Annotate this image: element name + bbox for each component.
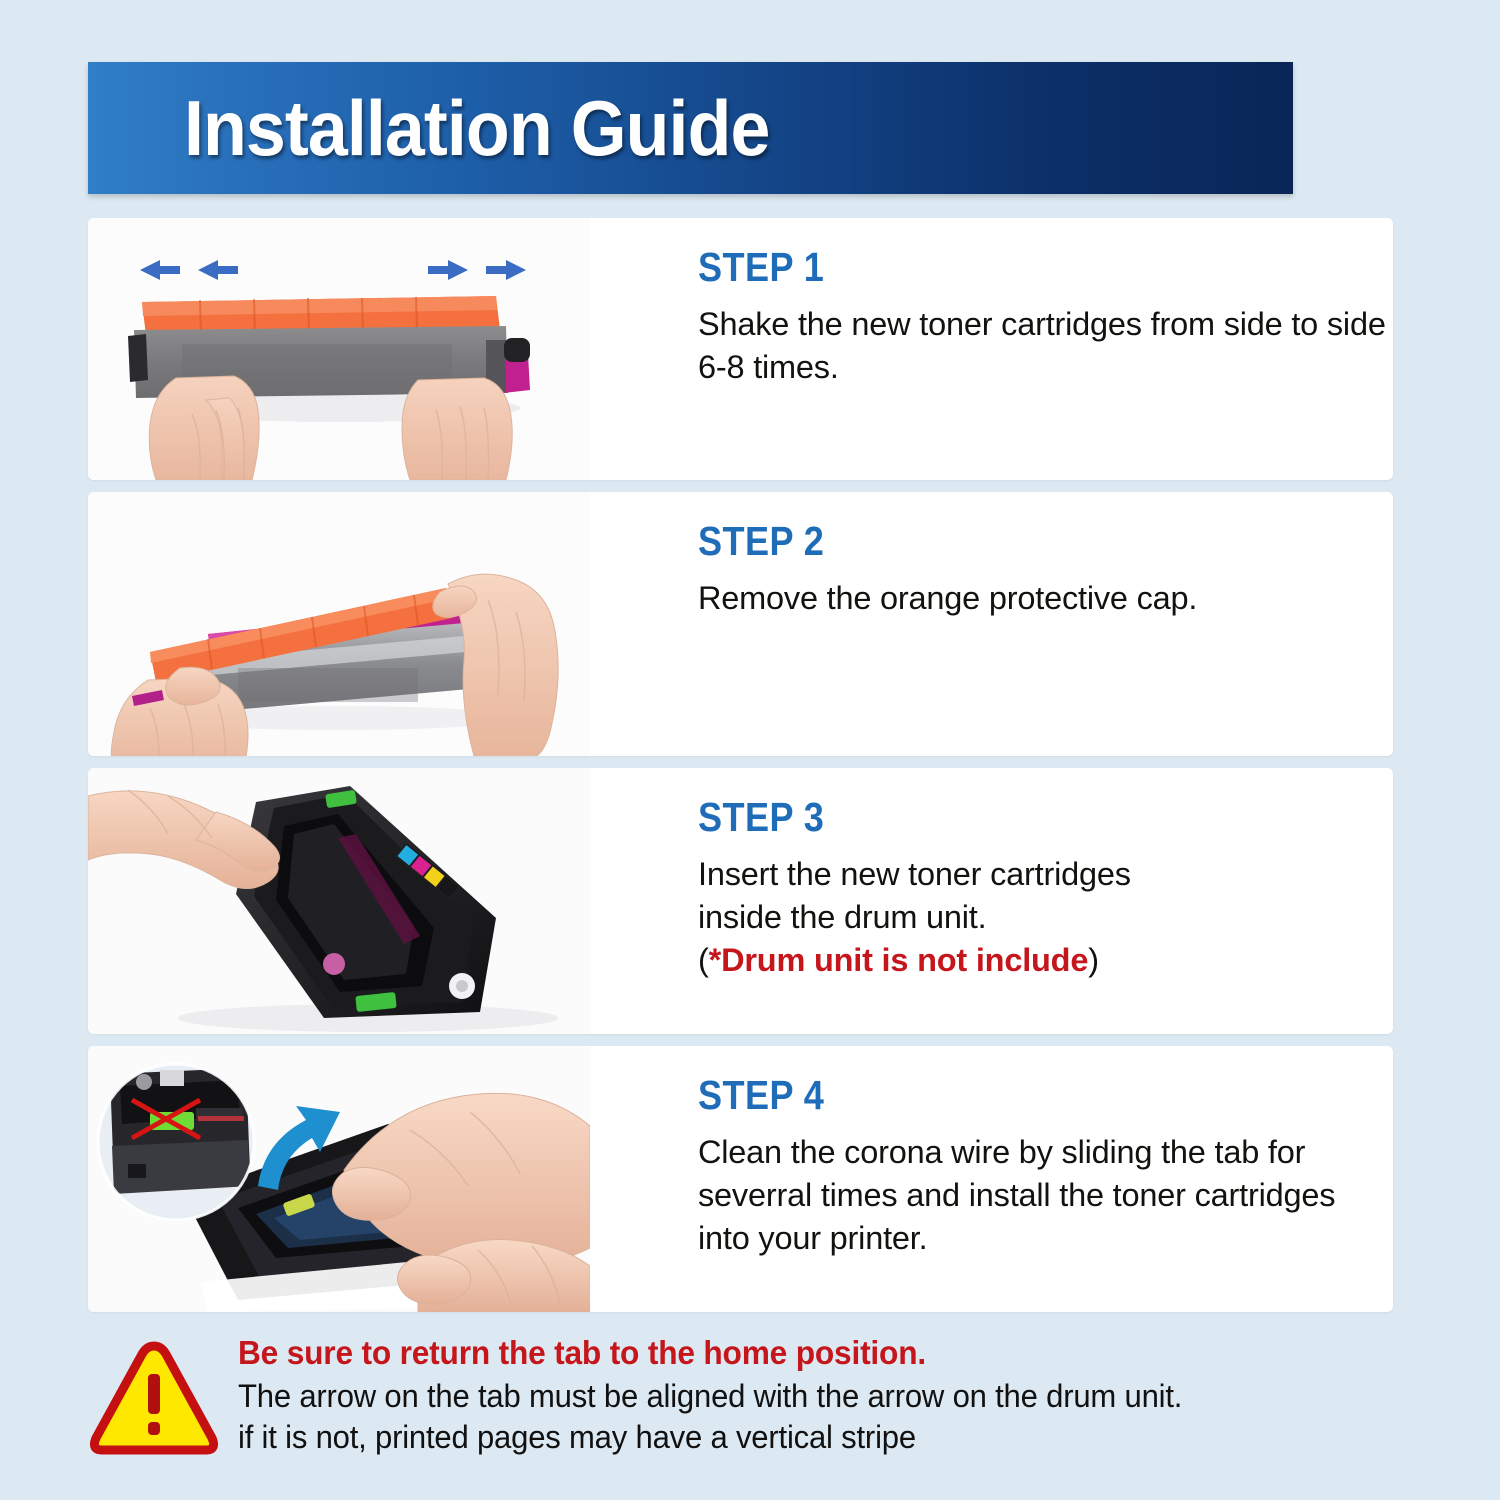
step-3-body-line2: inside the drum unit. bbox=[698, 899, 986, 935]
warning-heading: Be sure to return the tab to the home po… bbox=[238, 1334, 1172, 1372]
step-3-note-open: ( bbox=[698, 942, 709, 978]
step-1-label: STEP 1 bbox=[698, 246, 1310, 289]
step-3-note-close: ) bbox=[1088, 942, 1099, 978]
footer-warning: Be sure to return the tab to the home po… bbox=[88, 1332, 1408, 1458]
step-4-text: STEP 4 Clean the corona wire by sliding … bbox=[590, 1046, 1393, 1312]
step-2-text: STEP 2 Remove the orange protective cap. bbox=[590, 492, 1393, 756]
steps-list: STEP 1 Shake the new toner cartridges fr… bbox=[88, 218, 1393, 1324]
header-banner: Installation Guide bbox=[88, 62, 1293, 194]
step-3-note-highlight: *Drum unit is not include bbox=[709, 942, 1089, 978]
step-4-label: STEP 4 bbox=[698, 1074, 1310, 1117]
step-3-body-line1: Insert the new toner cartridges bbox=[698, 856, 1131, 892]
step-2-body: Remove the orange protective cap. bbox=[698, 577, 1393, 620]
step-row-4: STEP 4 Clean the corona wire by sliding … bbox=[88, 1046, 1393, 1312]
step-row-1: STEP 1 Shake the new toner cartridges fr… bbox=[88, 218, 1393, 480]
page-title: Installation Guide bbox=[184, 83, 769, 174]
step-1-photo bbox=[88, 218, 590, 480]
step-2-label: STEP 2 bbox=[698, 520, 1310, 563]
step-3-body: Insert the new toner cartridges inside t… bbox=[698, 853, 1393, 982]
step-row-3: STEP 3 Insert the new toner cartridges i… bbox=[88, 768, 1393, 1034]
closeup-inset bbox=[98, 1064, 254, 1220]
step-3-text: STEP 3 Insert the new toner cartridges i… bbox=[590, 768, 1393, 1034]
remove-cap-illustration bbox=[88, 492, 590, 756]
step-1-body: Shake the new toner cartridges from side… bbox=[698, 303, 1393, 389]
installation-guide-page: Installation Guide bbox=[0, 0, 1500, 1500]
step-3-photo bbox=[88, 768, 590, 1034]
drum-unit-illustration bbox=[88, 768, 590, 1034]
step-row-2: STEP 2 Remove the orange protective cap. bbox=[88, 492, 1393, 756]
step-4-body: Clean the corona wire by sliding the tab… bbox=[698, 1131, 1393, 1260]
step-4-photo bbox=[88, 1046, 590, 1312]
step-1-text: STEP 1 Shake the new toner cartridges fr… bbox=[590, 218, 1393, 480]
warning-triangle-icon bbox=[88, 1338, 220, 1458]
toner-shake-illustration bbox=[88, 218, 590, 480]
step-2-photo bbox=[88, 492, 590, 756]
warning-text-block: Be sure to return the tab to the home po… bbox=[220, 1332, 1211, 1458]
warning-line-1: The arrow on the tab must be aligned wit… bbox=[238, 1376, 1182, 1417]
step-3-label: STEP 3 bbox=[698, 796, 1310, 839]
corona-wire-illustration bbox=[88, 1046, 590, 1312]
warning-line-2: if it is not, printed pages may have a v… bbox=[238, 1417, 1182, 1458]
